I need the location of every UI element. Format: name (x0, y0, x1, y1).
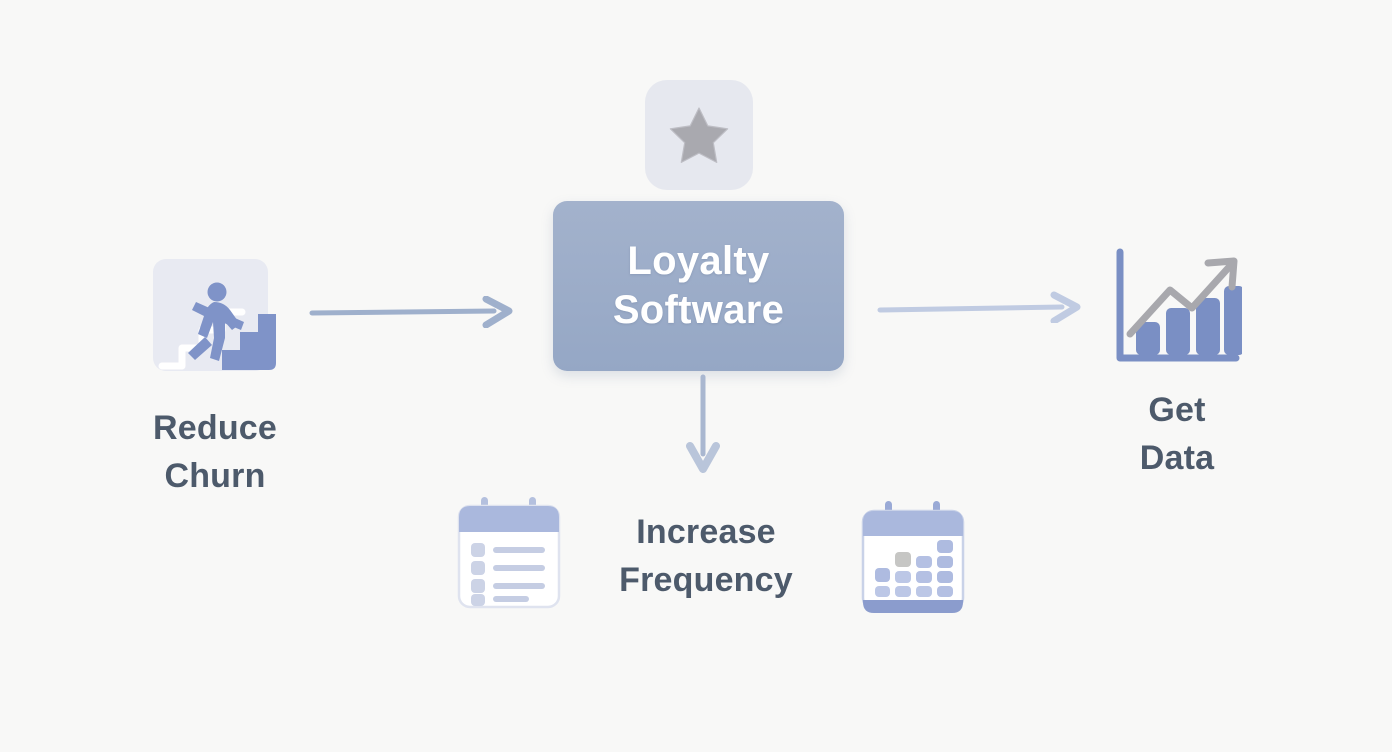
increase-frequency-label-line-2: Frequency (586, 556, 826, 604)
reduce-churn-label-line-1: Reduce (95, 404, 335, 452)
arrow-hub-to-get-data (876, 291, 1084, 323)
get-data-label-line-1: Get (1057, 386, 1297, 434)
reduce-churn-label: Reduce Churn (95, 404, 335, 501)
hub-label-line-1: Loyalty (613, 237, 784, 286)
diagram-canvas: Loyalty Software (0, 0, 1392, 752)
increase-frequency-label-line-1: Increase (586, 508, 826, 556)
increase-frequency-label: Increase Frequency (586, 508, 826, 605)
calendar-grid-icon (859, 500, 967, 617)
reduce-churn-label-line-2: Churn (95, 452, 335, 500)
calendar-list-icon (455, 495, 563, 611)
get-data-label-line-2: Data (1057, 434, 1297, 482)
star-icon (668, 105, 730, 165)
hub-label-line-2: Software (613, 286, 784, 335)
arrow-reduce-churn-to-hub (308, 296, 516, 328)
get-data-label: Get Data (1057, 386, 1297, 483)
loyalty-star-badge (645, 80, 753, 190)
loyalty-software-label: Loyalty Software (613, 237, 784, 335)
stairs-walker-icon (152, 258, 278, 380)
bar-chart-growth-icon (1112, 246, 1242, 368)
arrow-hub-to-increase-frequency (684, 374, 722, 474)
loyalty-software-node[interactable]: Loyalty Software (553, 201, 844, 371)
